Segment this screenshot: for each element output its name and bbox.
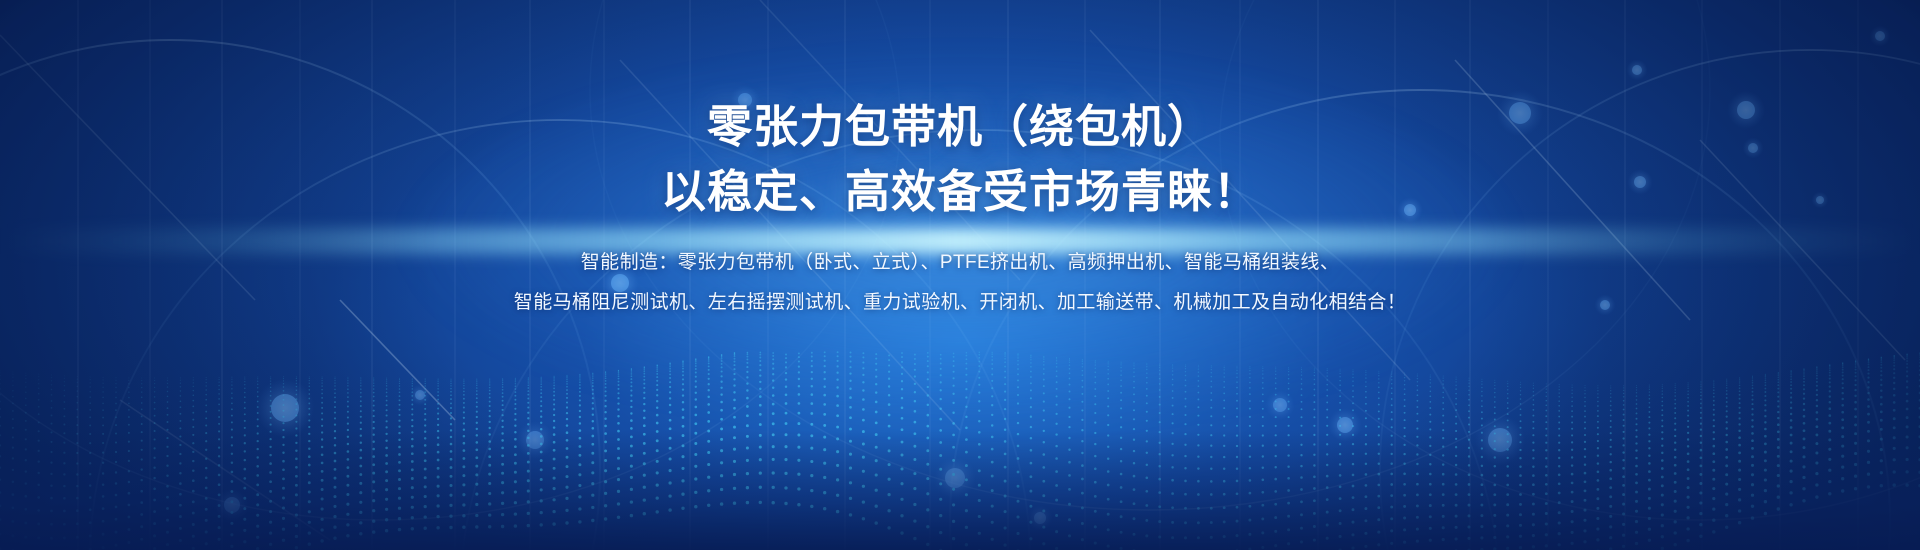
subheadline-line-1: 智能制造：零张力包带机（卧式、立式）、PTFE挤出机、高频押出机、智能马桶组装线… [514, 243, 1406, 283]
headline-line-1: 零张力包带机（绕包机） [661, 98, 1259, 157]
headline-line-2: 以稳定、高效备受市场青睐！ [661, 163, 1259, 222]
hero-banner: 零张力包带机（绕包机） 以稳定、高效备受市场青睐！ 智能制造：零张力包带机（卧式… [0, 0, 1920, 550]
subheadline-line-2: 智能马桶阻尼测试机、左右摇摆测试机、重力试验机、开闭机、加工输送带、机械加工及自… [514, 283, 1406, 323]
banner-subheadline: 智能制造：零张力包带机（卧式、立式）、PTFE挤出机、高频押出机、智能马桶组装线… [514, 243, 1406, 324]
banner-content: 零张力包带机（绕包机） 以稳定、高效备受市场青睐！ 智能制造：零张力包带机（卧式… [0, 0, 1920, 550]
banner-headline: 零张力包带机（绕包机） 以稳定、高效备受市场青睐！ [661, 98, 1259, 221]
